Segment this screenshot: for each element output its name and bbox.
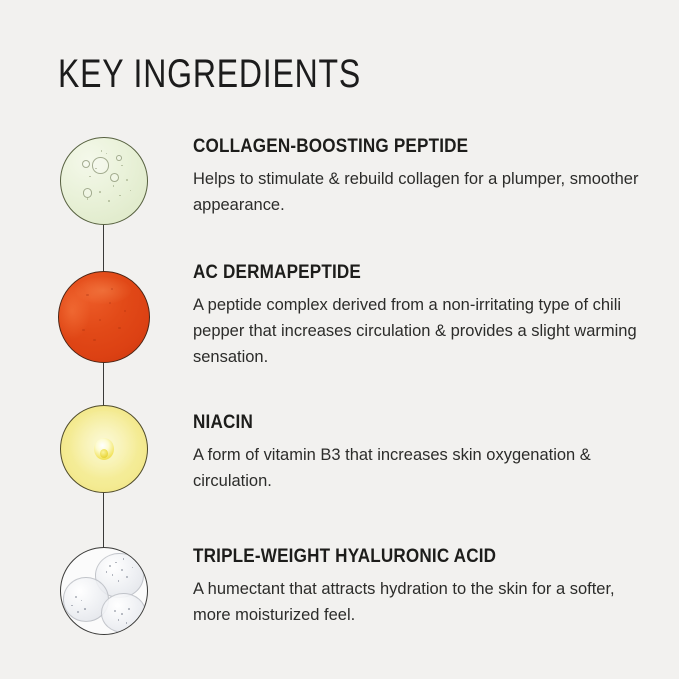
ingredient-description: A peptide complex derived from a non-irr… [193,292,639,370]
key-ingredients-infographic: KEY INGREDIENTS [0,0,679,679]
ingredient-swatch-column [0,0,190,679]
green-gel-swatch [60,137,148,225]
ingredient-name: COLLAGEN-BOOSTING PEPTIDE [193,136,607,158]
list-item: NIACIN A form of vitamin B3 that increas… [193,412,653,494]
list-item: TRIPLE-WEIGHT HYALURONIC ACID A humectan… [193,546,653,628]
ingredient-description: A humectant that attracts hydration to t… [193,576,639,628]
clear-gel-swatch [60,547,148,635]
ingredient-list: COLLAGEN-BOOSTING PEPTIDE Helps to stimu… [193,0,663,679]
ingredient-description: Helps to stimulate & rebuild collagen fo… [193,166,639,218]
connector-line-2-3 [103,363,104,406]
list-item: COLLAGEN-BOOSTING PEPTIDE Helps to stimu… [193,136,653,218]
ingredient-description: A form of vitamin B3 that increases skin… [193,442,639,494]
connector-line-3-4 [103,493,104,548]
orange-gel-swatch [58,271,150,363]
ingredient-name: AC DERMAPEPTIDE [193,262,607,284]
ingredient-name: NIACIN [193,412,607,434]
connector-line-1-2 [103,225,104,272]
ingredient-name: TRIPLE-WEIGHT HYALURONIC ACID [193,546,607,568]
list-item: AC DERMAPEPTIDE A peptide complex derive… [193,262,653,370]
yellow-droplet-swatch [60,405,148,493]
